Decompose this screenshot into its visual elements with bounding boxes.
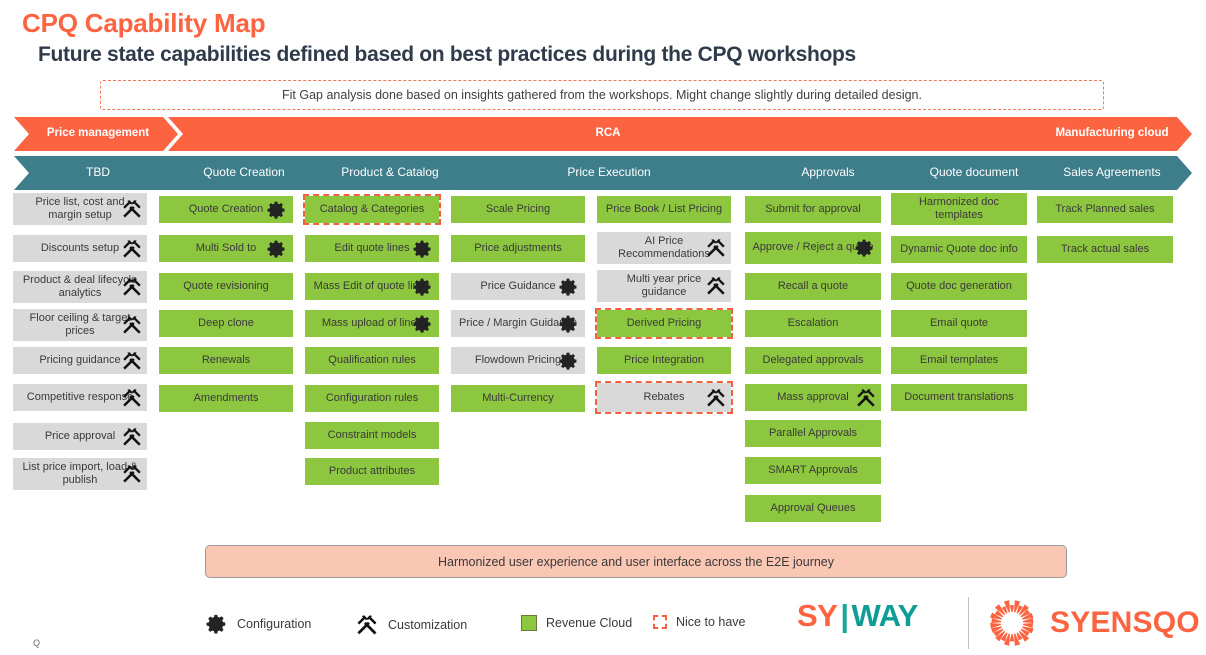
capability-card[interactable]: Quote doc generation	[891, 273, 1027, 300]
capability-card-label: Price Guidance	[480, 280, 555, 293]
capability-card[interactable]: Renewals	[159, 347, 293, 374]
capability-card[interactable]: Amendments	[159, 385, 293, 412]
capability-card-label: Quote doc generation	[906, 280, 1012, 293]
syway-logo-way: WAY	[852, 600, 918, 631]
capability-card-label: Quote Creation	[189, 203, 264, 216]
capability-card[interactable]: SMART Approvals	[745, 457, 881, 484]
capability-card-label: SMART Approvals	[768, 464, 857, 477]
gear-icon	[267, 200, 287, 220]
capability-card[interactable]: Mass upload of lines	[305, 310, 439, 337]
legend-item-nice-to-have: Nice to have	[653, 615, 745, 629]
hammer-icon	[705, 275, 727, 297]
hammer-icon	[121, 314, 143, 336]
syensqo-burst-icon	[985, 596, 1039, 650]
harmonized-ux-banner: Harmonized user experience and user inte…	[205, 545, 1067, 578]
capability-card[interactable]: Email templates	[891, 347, 1027, 374]
gear-icon	[413, 314, 433, 334]
ribbon-segment-tbd[interactable]: TBD	[14, 156, 178, 190]
ribbon-segment-label: Product & Catalog	[341, 166, 438, 180]
hammer-icon	[121, 238, 143, 260]
syensqo-logo: SYENSQO	[985, 596, 1200, 650]
capability-card-label: Product attributes	[329, 465, 415, 478]
capability-card[interactable]: Multi year price guidance	[597, 270, 731, 302]
capability-card-label: Price Book / List Pricing	[606, 203, 722, 216]
hammer-icon	[355, 613, 379, 637]
capability-card-label: Harmonized doc templates	[897, 196, 1021, 222]
ribbon-segment-sales-agreements[interactable]: Sales Agreements	[1028, 156, 1192, 190]
ribbon-segment-approvals[interactable]: Approvals	[744, 156, 908, 190]
capability-card[interactable]: Constraint models	[305, 422, 439, 449]
capability-card[interactable]: Competitive response	[13, 384, 147, 411]
capability-card[interactable]: Price Book / List Pricing	[597, 196, 731, 223]
gear-icon	[855, 238, 875, 258]
capability-card[interactable]: Mass approval	[745, 384, 881, 411]
capability-card[interactable]: Document translations	[891, 384, 1027, 411]
capability-card[interactable]: Price Integration	[597, 347, 731, 374]
hammer-icon	[121, 276, 143, 298]
capability-card-label: Escalation	[788, 317, 839, 330]
legend-item-customization: Customization	[355, 613, 467, 637]
ribbon-segment-quote-creation[interactable]: Quote Creation	[160, 156, 324, 190]
ribbon-segment-label: Sales Agreements	[1063, 166, 1160, 180]
ribbon-segment-label: Quote document	[930, 166, 1019, 180]
fit-gap-note-box: Fit Gap analysis done based on insights …	[100, 80, 1104, 110]
legend-item-label: Nice to have	[676, 615, 745, 629]
capability-card[interactable]: Dynamic Quote doc info	[891, 236, 1027, 263]
corner-mark: Q	[33, 638, 40, 648]
capability-card-label: Discounts setup	[41, 242, 119, 255]
hammer-icon	[121, 198, 143, 220]
capability-card[interactable]: Qualification rules	[305, 347, 439, 374]
syway-logo: SY | WAY	[797, 600, 918, 631]
capability-card[interactable]: Product & deal lifecycle analytics	[13, 271, 147, 303]
gear-icon	[413, 239, 433, 259]
capability-card-label: Deep clone	[198, 317, 254, 330]
capability-card[interactable]: Approval Queues	[745, 495, 881, 522]
capability-card-label: Email templates	[920, 354, 998, 367]
capability-card[interactable]: Quote revisioning	[159, 273, 293, 300]
hammer-icon	[121, 387, 143, 409]
capability-card[interactable]: Escalation	[745, 310, 881, 337]
capability-card-label: Parallel Approvals	[769, 427, 857, 440]
capability-card[interactable]: Approve / Reject a quote	[745, 232, 881, 264]
capability-card-label: Track Planned sales	[1055, 203, 1154, 216]
capability-card-label: Email quote	[930, 317, 988, 330]
capability-card-label: Renewals	[202, 354, 250, 367]
capability-card-label: Configuration rules	[326, 392, 418, 405]
ribbon-segment-label: Price Execution	[567, 166, 650, 180]
capability-card-label: Submit for approval	[765, 203, 860, 216]
capability-card[interactable]: Discounts setup	[13, 235, 147, 262]
syensqo-logo-text: SYENSQO	[1050, 608, 1200, 638]
capability-card-label: Amendments	[194, 392, 259, 405]
capability-card-label: Flowdown Pricing	[475, 354, 561, 367]
capability-card[interactable]: Scale Pricing	[451, 196, 585, 223]
dashed-square-icon	[653, 615, 667, 629]
gear-icon	[413, 277, 433, 297]
capability-map-page: CPQ Capability Map Future state capabili…	[0, 0, 1206, 653]
capability-card[interactable]: Pricing guidance	[13, 347, 147, 374]
ribbon-segment-price-management[interactable]: Price management	[14, 117, 178, 151]
capability-card[interactable]: Configuration rules	[305, 385, 439, 412]
ribbon-segment-quote-document[interactable]: Quote document	[890, 156, 1054, 190]
logo-separator	[968, 597, 969, 649]
capability-card-label: Edit quote lines	[334, 242, 409, 255]
ribbon-segment-product-catalog[interactable]: Product & Catalog	[306, 156, 470, 190]
harmonized-ux-banner-text: Harmonized user experience and user inte…	[438, 555, 834, 569]
hammer-icon	[855, 387, 877, 409]
capability-card-label: Price Integration	[624, 354, 704, 367]
green-square-icon	[521, 615, 537, 631]
syway-logo-divider: |	[840, 600, 848, 631]
capability-card[interactable]: Multi Sold to	[159, 235, 293, 262]
capability-card-label: Approval Queues	[771, 502, 856, 515]
capability-card-label: Competitive response	[27, 391, 133, 404]
capability-card-label: Document translations	[904, 391, 1013, 404]
ribbon-segment-label: TBD	[86, 166, 110, 180]
capability-card[interactable]: Delegated approvals	[745, 347, 881, 374]
capability-card-label: Quote revisioning	[183, 280, 269, 293]
capability-card-label: Mass approval	[777, 391, 849, 404]
capability-card[interactable]: Edit quote lines	[305, 235, 439, 262]
ribbon-segment-label: Quote Creation	[203, 166, 284, 180]
ribbon-segment-rca[interactable]: RCA	[168, 117, 1044, 151]
legend-item-label: Configuration	[237, 617, 311, 631]
fit-gap-note-text: Fit Gap analysis done based on insights …	[282, 88, 922, 102]
capability-card[interactable]: Multi-Currency	[451, 385, 585, 412]
capability-card-label: Mass upload of lines	[322, 317, 422, 330]
capability-card[interactable]: Price / Margin Guidance	[451, 310, 585, 337]
capability-card[interactable]: Deep clone	[159, 310, 293, 337]
legend-item-label: Revenue Cloud	[546, 616, 632, 630]
hammer-icon	[705, 237, 727, 259]
capability-card-label: Constraint models	[328, 429, 417, 442]
hammer-icon	[121, 463, 143, 485]
ribbon-segment-price-execution[interactable]: Price Execution	[452, 156, 762, 190]
capability-card[interactable]: List price import, load & publish	[13, 458, 147, 490]
legend-item-label: Customization	[388, 618, 467, 632]
capability-card[interactable]: Quote Creation	[159, 196, 293, 223]
capability-card[interactable]: Derived Pricing	[597, 310, 731, 337]
ribbon-segment-label: Manufacturing cloud	[1055, 127, 1168, 140]
legend-item-configuration: Configuration	[206, 613, 311, 635]
ribbon-segment-manufacturing-cloud[interactable]: Manufacturing cloud	[1028, 117, 1192, 151]
syway-logo-sy: SY	[797, 600, 837, 631]
hammer-icon	[705, 387, 727, 409]
capability-card[interactable]: Track Planned sales	[1037, 196, 1173, 223]
capability-card[interactable]: Floor ceiling & target prices	[13, 309, 147, 341]
capability-card-label: Price approval	[45, 430, 115, 443]
capability-card-label: Qualification rules	[328, 354, 415, 367]
capability-card[interactable]: Recall a quote	[745, 273, 881, 300]
capability-card[interactable]: Product attributes	[305, 458, 439, 485]
gear-icon	[267, 239, 287, 259]
capability-card[interactable]: Mass Edit of quote lines	[305, 273, 439, 300]
capability-card-label: Track actual sales	[1061, 243, 1149, 256]
capability-card[interactable]: Flowdown Pricing	[451, 347, 585, 374]
ribbon-segment-label: RCA	[596, 127, 621, 140]
capability-card[interactable]: Price list, cost and margin setup	[13, 193, 147, 225]
gear-icon	[559, 277, 579, 297]
ribbon-segment-label: Approvals	[801, 166, 854, 180]
capability-card[interactable]: Rebates	[597, 383, 731, 412]
capability-card-label: Pricing guidance	[39, 354, 120, 367]
hammer-icon	[121, 426, 143, 448]
capability-card[interactable]: Price Guidance	[451, 273, 585, 300]
capability-card-label: Delegated approvals	[763, 354, 864, 367]
capability-card[interactable]: Email quote	[891, 310, 1027, 337]
hammer-icon	[121, 350, 143, 372]
capability-card-label: Price adjustments	[474, 242, 561, 255]
capability-card-label: Scale Pricing	[486, 203, 550, 216]
capability-card[interactable]: Price adjustments	[451, 235, 585, 262]
capability-card[interactable]: Catalog & Categories	[305, 196, 439, 223]
capability-card[interactable]: Submit for approval	[745, 196, 881, 223]
gear-icon	[206, 613, 228, 635]
capability-card-label: Catalog & Categories	[320, 203, 425, 216]
capability-card[interactable]: AI Price Recommendations	[597, 232, 731, 264]
capability-card-label: Multi Sold to	[196, 242, 257, 255]
capability-card[interactable]: Price approval	[13, 423, 147, 450]
page-title: CPQ Capability Map	[22, 8, 265, 39]
legend-item-revenue-cloud: Revenue Cloud	[521, 615, 632, 631]
page-subtitle: Future state capabilities defined based …	[38, 43, 856, 67]
capability-card-label: Recall a quote	[778, 280, 848, 293]
capability-card-label: Dynamic Quote doc info	[900, 243, 1017, 256]
capability-card[interactable]: Parallel Approvals	[745, 420, 881, 447]
capability-card[interactable]: Track actual sales	[1037, 236, 1173, 263]
capability-card[interactable]: Harmonized doc templates	[891, 193, 1027, 225]
capability-card-label: Multi-Currency	[482, 392, 554, 405]
capability-card-label: Derived Pricing	[627, 317, 702, 330]
ribbon-segment-label: Price management	[47, 127, 149, 140]
gear-icon	[559, 351, 579, 371]
capability-card-label: Rebates	[644, 391, 685, 404]
gear-icon	[559, 314, 579, 334]
